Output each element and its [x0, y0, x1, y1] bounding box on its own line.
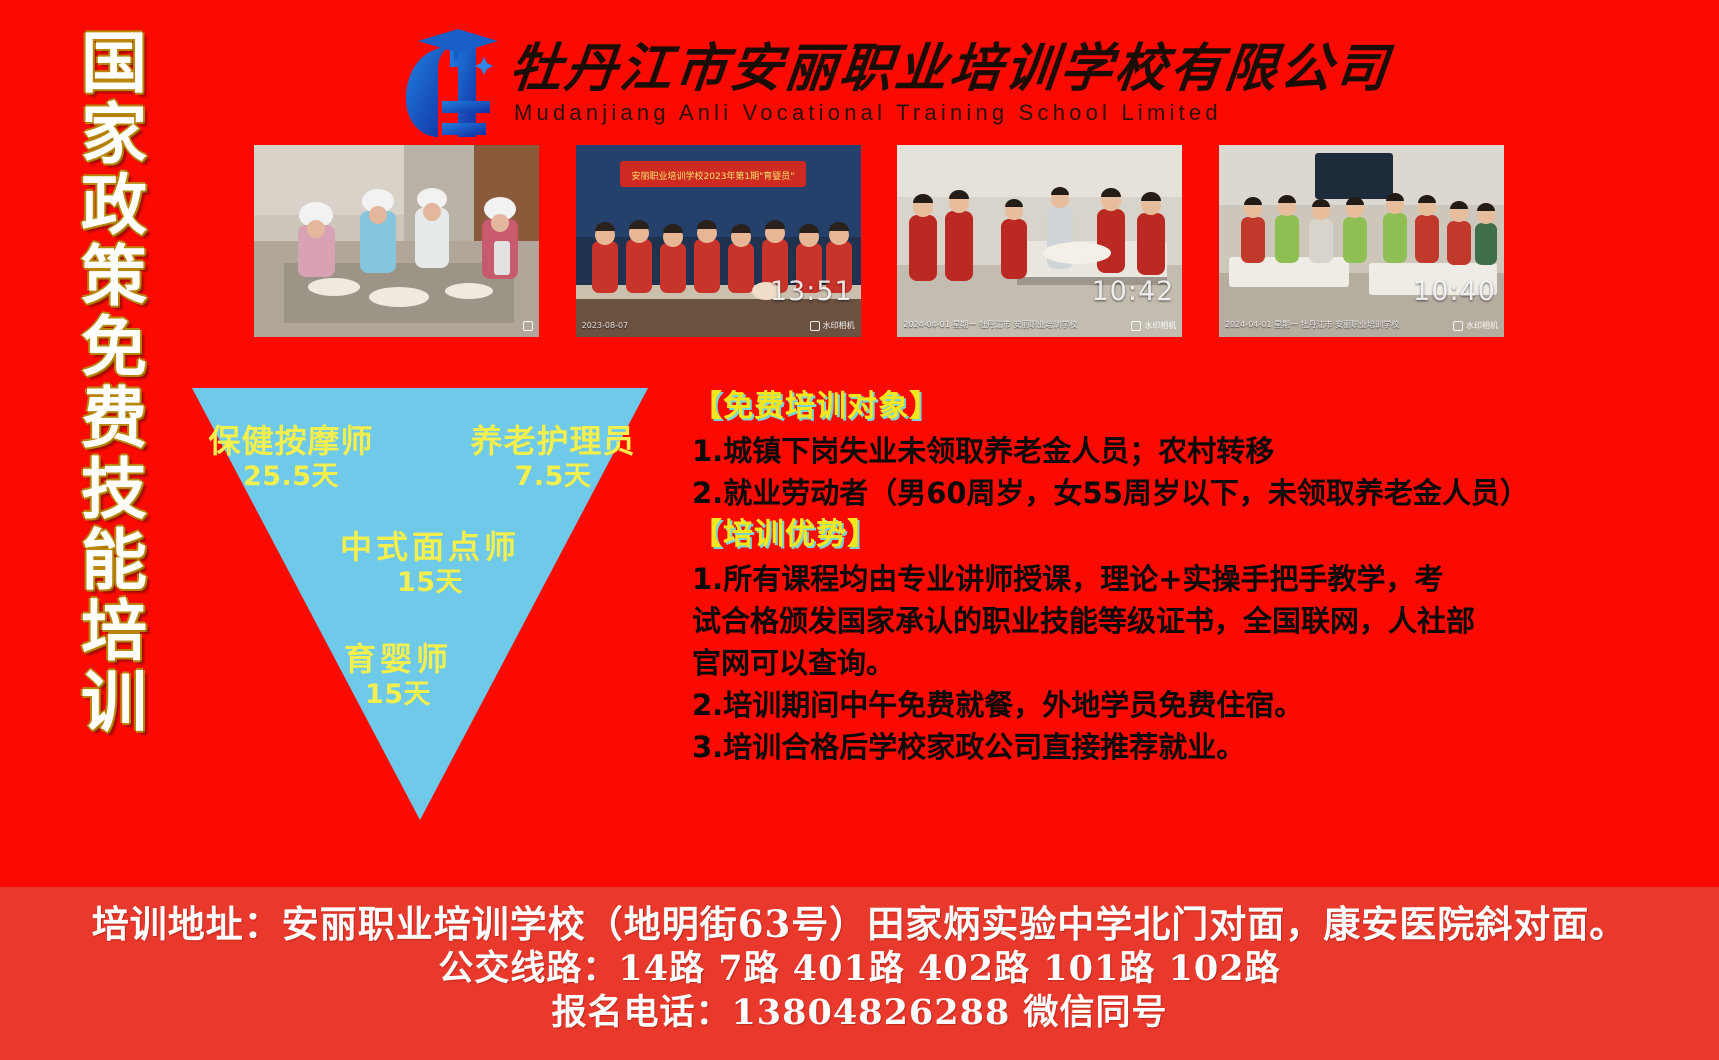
footer-address: 培训地址：安丽职业培训学校（地明街63号）田家炳实验中学北门对面，康安医院斜对面… — [92, 901, 1628, 947]
course-item: 保健按摩师 25.5天 — [196, 422, 386, 494]
poster-header: 牡丹江市安丽职业培训学校有限公司 Mudanjiang Anli Vocatio… — [398, 22, 1298, 144]
course-name: 养老护理员 — [458, 422, 648, 460]
photo-subcaption: 2023-08-07 — [582, 321, 629, 330]
advantage-line: 3.培训合格后学校家政公司直接推荐就业。 — [692, 726, 1512, 768]
school-name-cn: 牡丹江市安丽职业培训学校有限公司 — [507, 40, 1393, 98]
photo-watermark: 水印相机 — [1453, 320, 1498, 331]
course-triangle: 保健按摩师 25.5天 养老护理员 7.5天 中式面点师 15天 育婴师 15天 — [180, 388, 660, 820]
photo-timestamp: 10:40 — [1413, 276, 1496, 307]
vertical-title-char: 技 — [81, 454, 147, 525]
vertical-title-char: 政 — [81, 170, 147, 241]
course-item: 养老护理员 7.5天 — [458, 422, 648, 494]
photo-subcaption: 2024-04-01 星期一 牡丹江市·安丽职业培训学校 — [1225, 319, 1399, 330]
photo-classroom-training: 10:40 2024-04-01 星期一 牡丹江市·安丽职业培训学校 水印相机 — [1219, 145, 1504, 337]
vertical-title-char: 家 — [81, 99, 147, 170]
photo-nursing-practice: 10:42 2024-04-01 星期一 牡丹江市 安丽职业培训学校 水印相机 — [897, 145, 1182, 337]
course-days: 7.5天 — [458, 460, 648, 494]
heading-free-training-target: 【免费培训对象】 — [692, 386, 1512, 428]
vertical-title-char: 训 — [81, 667, 147, 738]
photo-strip: 安丽职业培训学校2023年第1期"育婴员" — [254, 145, 1504, 340]
photo-timestamp: 10:42 — [1092, 276, 1175, 307]
info-block: 【免费培训对象】 1.城镇下岗失业未领取养老金人员；农村转移 2.就业劳动者（男… — [692, 386, 1512, 768]
footer-bus-routes: 公交线路：14路 7路 401路 402路 101路 102路 — [438, 947, 1280, 991]
vertical-title-char: 能 — [81, 525, 147, 596]
school-name-en: Mudanjiang Anli Vocational Training Scho… — [510, 100, 1390, 126]
course-days: 15天 — [238, 678, 558, 712]
photo-baking-class — [254, 145, 539, 337]
header-text-block: 牡丹江市安丽职业培训学校有限公司 Mudanjiang Anli Vocatio… — [510, 40, 1390, 126]
course-days: 15天 — [270, 566, 590, 600]
photo-timestamp: 13:51 — [770, 276, 853, 307]
vertical-title-char: 国 — [81, 28, 147, 99]
photo-watermark: 水印相机 — [1131, 320, 1176, 331]
footer-contact-band: 培训地址：安丽职业培训学校（地明街63号）田家炳实验中学北门对面，康安医院斜对面… — [0, 887, 1719, 1060]
advantage-line: 官网可以查询。 — [692, 642, 1512, 684]
poster-root: 国 家 政 策 免 费 技 能 培 训 — [0, 0, 1719, 1060]
target-line: 1.城镇下岗失业未领取养老金人员；农村转移 — [692, 430, 1512, 472]
course-days: 25.5天 — [196, 460, 386, 494]
advantage-line: 试合格颁发国家承认的职业技能等级证书，全国联网，人社部 — [692, 600, 1512, 642]
course-item: 中式面点师 15天 — [270, 528, 590, 600]
vertical-title-char: 培 — [81, 596, 147, 667]
vertical-title-char: 免 — [81, 312, 147, 383]
heading-training-advantage: 【培训优势】 — [692, 514, 1512, 556]
course-item: 育婴师 15天 — [238, 640, 558, 712]
vertical-title-char: 策 — [81, 241, 147, 312]
photo-watermark: 水印相机 — [810, 320, 855, 331]
course-name: 中式面点师 — [270, 528, 590, 566]
photo-subcaption: 2024-04-01 星期一 牡丹江市 安丽职业培训学校 — [903, 319, 1077, 330]
vertical-banner-title: 国 家 政 策 免 费 技 能 培 训 — [62, 28, 166, 748]
course-name: 育婴师 — [238, 640, 558, 678]
photo-watermark — [523, 321, 533, 331]
course-row-top: 保健按摩师 25.5天 养老护理员 7.5天 — [196, 422, 648, 494]
svg-text:安丽职业培训学校2023年第1期"育婴员": 安丽职业培训学校2023年第1期"育婴员" — [631, 170, 794, 182]
course-list: 保健按摩师 25.5天 养老护理员 7.5天 中式面点师 15天 育婴师 15天 — [180, 388, 660, 820]
advantage-line: 2.培训期间中午免费就餐，外地学员免费住宿。 — [692, 684, 1512, 726]
footer-phone: 报名电话：13804826288 微信同号 — [551, 991, 1167, 1035]
photo-group-ceremony: 安丽职业培训学校2023年第1期"育婴员" — [576, 145, 861, 337]
advantage-line: 1.所有课程均由专业讲师授课，理论+实操手把手教学，考 — [692, 558, 1512, 600]
course-name: 保健按摩师 — [196, 422, 386, 460]
vertical-title-char: 费 — [81, 383, 147, 454]
graduation-cap-logo-icon — [398, 27, 502, 139]
target-line: 2.就业劳动者（男60周岁，女55周岁以下，未领取养老金人员） — [692, 472, 1512, 514]
